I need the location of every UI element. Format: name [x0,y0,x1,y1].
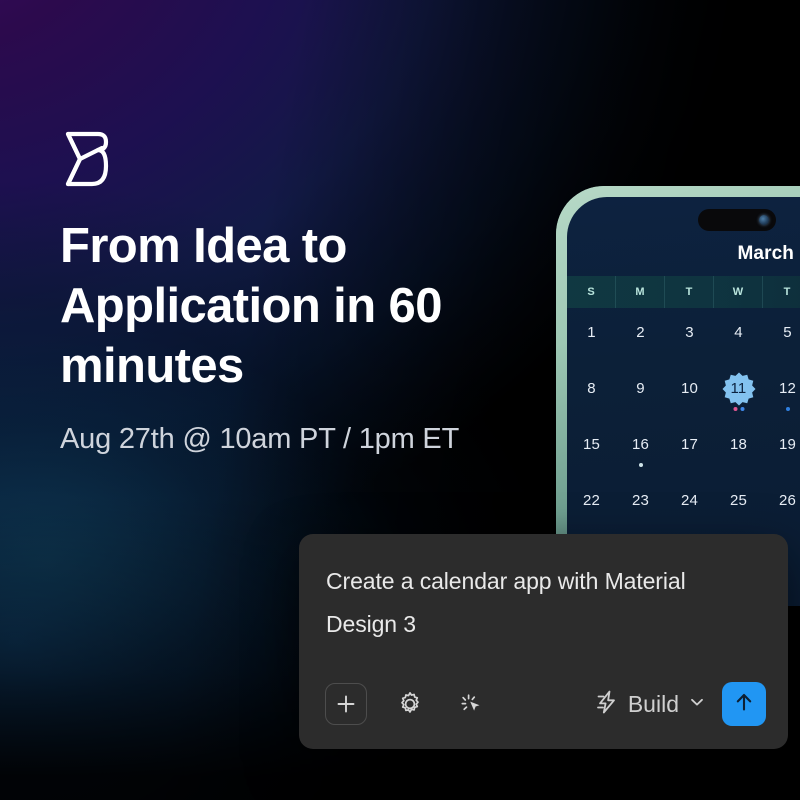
add-attachment-button[interactable] [325,683,367,725]
calendar-day-cell[interactable]: 18 [714,420,763,476]
weekday-label: W [714,276,763,308]
calendar-weekday-header: S M T W T [567,276,800,308]
calendar-day-number: 15 [583,436,600,453]
calendar-week-row: 12345 [567,308,800,364]
calendar-day-number: 19 [779,436,796,453]
prompt-toolbar: Build [325,681,766,727]
event-dot [740,407,744,411]
event-dot [733,407,737,411]
calendar-day-cell[interactable]: 8 [567,364,616,420]
chevron-down-icon[interactable] [688,693,706,716]
calendar-day-number: 26 [779,492,796,509]
calendar-day-cell[interactable]: 22 [567,476,616,532]
prompt-text[interactable]: Create a calendar app with Material Desi… [326,560,762,646]
event-dots [733,407,744,411]
calendar-day-cell[interactable]: 1 [567,308,616,364]
calendar-day-cell[interactable]: 19 [763,420,800,476]
calendar-day-number: 10 [681,380,698,397]
magic-cursor-icon [459,691,485,717]
calendar-day-cell[interactable]: 24 [665,476,714,532]
calendar-day-cell[interactable]: 3 [665,308,714,364]
event-dots [786,407,790,411]
calendar-day-number: 4 [734,324,743,341]
promo-banner: From Idea to Application in 60 minutes A… [0,0,800,800]
enhance-prompt-button[interactable] [451,683,493,725]
arrow-up-icon [732,690,756,719]
calendar-day-cell[interactable]: 15 [567,420,616,476]
settings-button[interactable] [389,683,431,725]
calendar-day-number: 8 [587,380,596,397]
calendar-day-cell[interactable]: 2 [616,308,665,364]
calendar-day-number: 11 [731,380,747,397]
calendar-day-number: 23 [632,492,649,509]
calendar-day-number: 12 [779,380,796,397]
calendar-day-cell[interactable]: 4 [714,308,763,364]
calendar-week-row: 1516171819 [567,420,800,476]
calendar-day-number: 16 [632,436,649,453]
calendar-month-title: March 2026 [567,243,800,265]
prompt-card: Create a calendar app with Material Desi… [299,534,788,749]
calendar-day-number: 5 [783,324,792,341]
calendar-day-cell[interactable]: 17 [665,420,714,476]
event-dots [639,463,643,467]
calendar-day-number: 3 [685,324,694,341]
calendar-day-cell-selected[interactable]: 11 [714,364,763,420]
camera-lens-icon [759,215,769,225]
mode-label: Build [628,691,679,718]
calendar-day-cell[interactable]: 25 [714,476,763,532]
calendar-day-cell[interactable]: 26 [763,476,800,532]
weekday-label: T [763,276,800,308]
calendar-day-number: 9 [636,380,645,397]
event-dot [639,463,643,467]
dynamic-island [698,209,776,231]
event-datetime: Aug 27th @ 10am PT / 1pm ET [60,423,580,456]
plus-icon [335,693,357,715]
calendar-week-row: 2223242526 [567,476,800,532]
calendar-day-cell[interactable]: 10 [665,364,714,420]
page-title: From Idea to Application in 60 minutes [60,216,530,396]
weekday-label: T [665,276,714,308]
mode-selector[interactable]: Build [595,689,706,720]
submit-button[interactable] [722,682,766,726]
calendar-day-number: 17 [681,436,698,453]
weekday-label: S [567,276,616,308]
lightning-bolt-icon [595,689,619,720]
calendar-day-cell[interactable]: 9 [616,364,665,420]
calendar-day-cell[interactable]: 16 [616,420,665,476]
calendar-day-cell[interactable]: 23 [616,476,665,532]
calendar-day-number: 24 [681,492,698,509]
weekday-label: M [616,276,665,308]
calendar-week-row: 89101112 [567,364,800,420]
calendar-day-cell[interactable]: 12 [763,364,800,420]
calendar-day-number: 2 [636,324,645,341]
calendar-day-number: 25 [730,492,747,509]
bolt-b-logo-icon [58,128,110,190]
calendar-day-number: 18 [730,436,747,453]
calendar-day-number: 22 [583,492,600,509]
gear-icon [397,691,423,717]
calendar-day-cell[interactable]: 5 [763,308,800,364]
event-dot [786,407,790,411]
calendar-day-number: 1 [587,324,596,341]
